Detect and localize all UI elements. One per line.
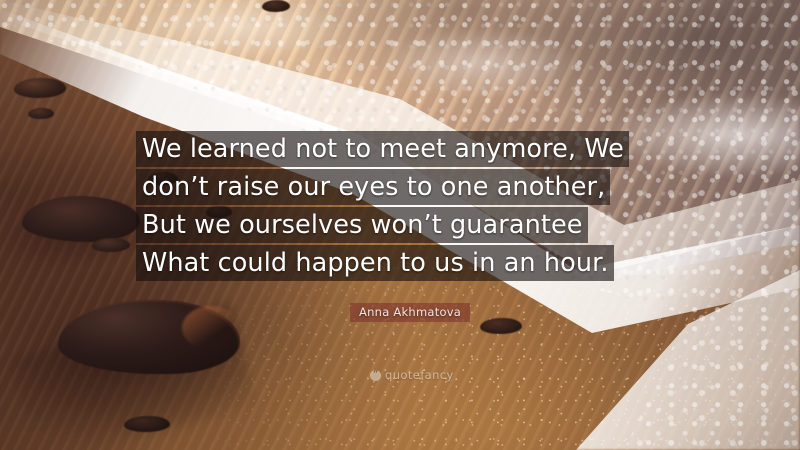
quote-mark-icon: “ [370,370,381,381]
quote-line-4: What could happen to us in an hour. [136,245,614,281]
quotefancy-watermark: “ quotefancy [370,369,454,381]
rock-small-3 [92,238,130,252]
rock-large-rim-light [182,306,240,350]
rock-medium [22,196,140,242]
author-attribution: Anna Akhmatova [350,303,470,322]
rock-small-6 [28,108,54,119]
quote-line-1: We learned not to meet anymore, We [136,131,629,167]
rock-small-8 [262,0,290,12]
rock-small-1 [14,78,66,98]
rock-small-5 [480,318,522,334]
rock-small-7 [124,416,170,432]
quote-line-2: don’t raise our eyes to one another, [136,169,610,205]
watermark-label: quotefancy [385,369,454,381]
quote-text-block: We learned not to meet anymore, We don’t… [136,131,670,281]
quote-poster: We learned not to meet anymore, We don’t… [0,0,800,450]
quote-line-3: But we ourselves won’t guarantee [136,207,588,243]
